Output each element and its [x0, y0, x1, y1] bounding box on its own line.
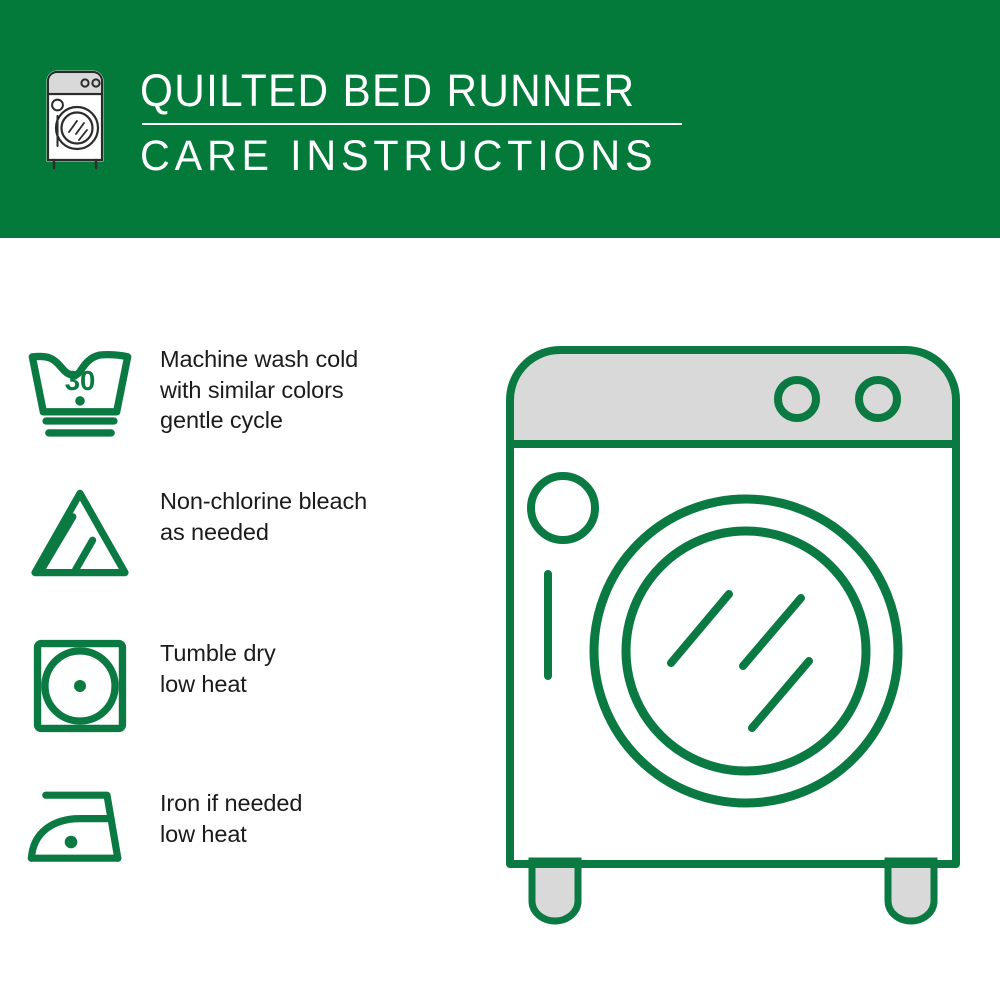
care-line: with similar colors — [160, 375, 470, 406]
header-text-block: QUILTED BED RUNNER CARE INSTRUCTIONS — [140, 66, 840, 181]
care-line: low heat — [160, 819, 470, 850]
page-subtitle: CARE INSTRUCTIONS — [140, 131, 812, 181]
wash-temperature-label: 30 — [65, 365, 96, 396]
care-line: as needed — [160, 517, 470, 548]
machine-dial — [531, 476, 595, 540]
non-chlorine-bleach-triangle-icon — [0, 486, 160, 580]
washing-machine-icon — [44, 68, 106, 172]
title-divider — [142, 123, 682, 125]
machine-legs — [532, 861, 934, 921]
tumble-dry-low-heat-icon — [0, 638, 160, 734]
care-line: Tumble dry — [160, 638, 470, 669]
care-row-bleach: Non-chlorine bleach as needed — [0, 486, 470, 580]
care-line: gentle cycle — [160, 405, 470, 436]
care-text-iron: Iron if needed low heat — [160, 788, 470, 849]
care-row-iron: Iron if needed low heat — [0, 788, 470, 869]
machine-door-shine — [671, 594, 809, 728]
care-text-machine-wash: Machine wash cold with similar colors ge… — [160, 344, 470, 436]
machine-door-inner — [626, 531, 866, 771]
washing-machine-illustration — [496, 336, 966, 936]
machine-control-panel — [510, 350, 956, 444]
care-text-tumble-dry: Tumble dry low heat — [160, 638, 470, 699]
iron-low-heat-icon — [0, 788, 160, 869]
care-line: Iron if needed — [160, 788, 470, 819]
care-line: low heat — [160, 669, 470, 700]
care-instructions-list: 30 Machine wash cold with similar colors… — [0, 238, 470, 1000]
care-text-bleach: Non-chlorine bleach as needed — [160, 486, 470, 547]
care-line: Machine wash cold — [160, 344, 470, 375]
wash-tub-30-gentle-icon: 30 — [0, 344, 160, 443]
care-line: Non-chlorine bleach — [160, 486, 470, 517]
page-title: QUILTED BED RUNNER — [140, 66, 798, 116]
care-row-tumble-dry: Tumble dry low heat — [0, 638, 470, 734]
care-instructions-poster: QUILTED BED RUNNER CARE INSTRUCTIONS 30 — [0, 0, 1000, 1000]
machine-door-outer — [594, 499, 898, 803]
header-band: QUILTED BED RUNNER CARE INSTRUCTIONS — [0, 0, 1000, 238]
care-row-machine-wash: 30 Machine wash cold with similar colors… — [0, 344, 470, 443]
